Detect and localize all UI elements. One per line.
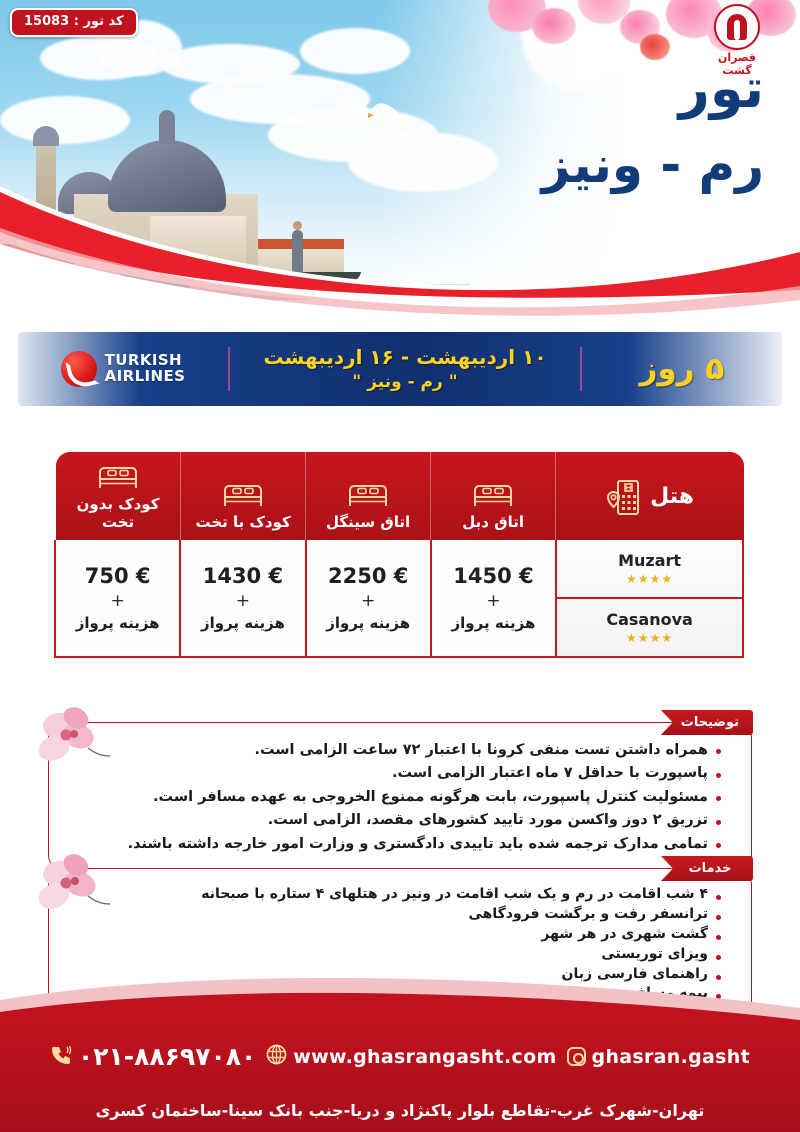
table-header-double-room: اتاق دبل [430,452,555,540]
list-item: مسئولیت کنترل پاسپورت، بابت هرگونه ممنوع… [71,786,721,809]
flight-fee-label: هزینه پرواز [452,614,536,632]
table-header-child-with-bed: کودک با تخت [180,452,305,540]
agency-monogram-icon [714,4,760,50]
notes-box: توضیحات همراه داشتن تست منفی کرونا با اع… [48,722,752,871]
hotel-building-icon [606,478,640,516]
flight-fee-label: هزینه پرواز [201,614,285,632]
trip-dates: ۱۰ اردیبهشت - ۱۶ اردیبهشت [236,344,574,371]
table-header-row: هتل [56,452,744,540]
list-item: پاسپورت با حداقل ۷ ماه اعتبار الزامی است… [71,762,721,785]
flight-fee-label: هزینه پرواز [326,614,410,632]
instagram-handle: ghasran.gasht [592,1046,750,1068]
bed-icon [97,462,139,490]
price-value: 1450 € [453,564,533,588]
list-item: ۴ شب اقامت در رم و یک شب اقامت در ونیز د… [71,885,721,905]
bed-icon [472,480,514,508]
notes-section: توضیحات همراه داشتن تست منفی کرونا با اع… [48,722,752,871]
flyer-page: کد تور : 15083 قصران گشت تور رم - ونیز ۵… [0,0,800,1132]
hotel-names-column: Muzart ★★★★ Casanova ★★★★ [555,540,744,658]
footer-curve-decoration [0,978,800,1024]
table-header-double-room-label: اتاق دبل [462,513,524,531]
price-cell-child-without-bed: 750 € + هزینه پرواز [54,540,181,658]
table-body: Muzart ★★★★ Casanova ★★★★ 1450 € + هزینه… [56,540,744,658]
notes-tag: توضیحات [661,710,753,735]
list-item: تزریق ۲ دوز واکسن مورد تایید کشورهای مقص… [71,809,721,832]
table-header-child-with-bed-label: کودک با تخت [195,513,290,531]
banner-divider-2 [228,347,230,391]
website-url: www.ghasrangasht.com [293,1046,556,1068]
hotel-name: Casanova [606,610,692,629]
bed-icon [222,480,264,508]
turkish-airlines-logo-icon [61,351,97,387]
trip-dates-block: ۱۰ اردیبهشت - ۱۶ اردیبهشت " رم - ونیز " [230,344,580,394]
table-header-single-room: اتاق سینگل [305,452,430,540]
plus-symbol: + [486,591,500,611]
red-swoosh-divider [0,182,800,317]
page-title-line2: رم - ونیز [542,140,764,190]
table-header-single-room-label: اتاق سینگل [326,513,410,531]
plus-symbol: + [361,591,375,611]
table-row: Muzart ★★★★ [557,540,742,597]
table-header-child-without-bed-label: کودک بدون تخت [60,495,176,531]
footer-address: تهران-شهرک غرب-تقاطع بلوار پاکنژاد و دری… [0,1101,800,1120]
list-item: گشت شهری در هر شهر [71,925,721,945]
banner-divider-1 [580,347,582,391]
price-table: هتل [56,452,744,658]
globe-icon [266,1044,287,1069]
hotel-name: Muzart [618,551,681,570]
phone-number: ۰۲۱-۸۸۶۹۷۰۸۰ [78,1042,256,1071]
price-cell-child-with-bed: 1430 € + هزینه پرواز [179,540,306,658]
table-row: Casanova ★★★★ [557,597,742,656]
airline-logo: TURKISH AIRLINES [18,351,228,387]
footer-instagram[interactable]: ghasran.gasht [567,1046,750,1068]
list-item: ترانسفر رفت و برگشت فرودگاهی [71,905,721,925]
footer-website[interactable]: www.ghasrangasht.com [266,1044,556,1069]
duration-label: ۵ روز [582,351,782,387]
footer-contact-row: ۰۲۱-۸۸۶۹۷۰۸۰ www.ghasrangasht.com ghasra… [0,1042,800,1071]
phone-icon [50,1044,72,1070]
bed-icon [347,480,389,508]
footer-phone[interactable]: ۰۲۱-۸۸۶۹۷۰۸۰ [50,1042,256,1071]
plus-symbol: + [236,591,250,611]
footer: ۰۲۱-۸۸۶۹۷۰۸۰ www.ghasrangasht.com ghasra… [0,1012,800,1132]
price-cell-single-room: 2250 € + هزینه پرواز [305,540,432,658]
price-cell-double-room: 1450 € + هزینه پرواز [430,540,557,658]
notes-list: همراه داشتن تست منفی کرونا با اعتبار ۷۲ … [71,739,721,856]
table-header-hotel-label: هتل [650,484,694,509]
table-header-hotel: هتل [555,452,744,540]
instagram-icon [567,1047,586,1066]
list-item: همراه داشتن تست منفی کرونا با اعتبار ۷۲ … [71,739,721,762]
airline-name: TURKISH AIRLINES [105,353,186,385]
hotel-star-rating: ★★★★ [626,572,673,586]
airline-name-line2: AIRLINES [105,369,186,385]
tour-code-badge: کد تور : 15083 [10,8,138,37]
services-tag: خدمات [661,856,753,881]
price-value: 1430 € [203,564,283,588]
hotel-star-rating: ★★★★ [626,631,673,645]
list-item: تمامی مدارک ترجمه شده باید تاییدی دادگست… [71,833,721,856]
table-header-child-without-bed: کودک بدون تخت [56,452,180,540]
price-value: 750 € [85,564,151,588]
trip-route: " رم - ونیز " [236,371,574,394]
agency-logo-text: قصران گشت [702,51,772,77]
trip-info-banner: ۵ روز ۱۰ اردیبهشت - ۱۶ اردیبهشت " رم - و… [18,332,782,406]
price-value: 2250 € [328,564,408,588]
agency-logo[interactable]: قصران گشت [702,4,772,77]
flight-fee-label: هزینه پرواز [76,614,160,632]
list-item: ویزای توریستی [71,945,721,965]
plus-symbol: + [111,591,125,611]
